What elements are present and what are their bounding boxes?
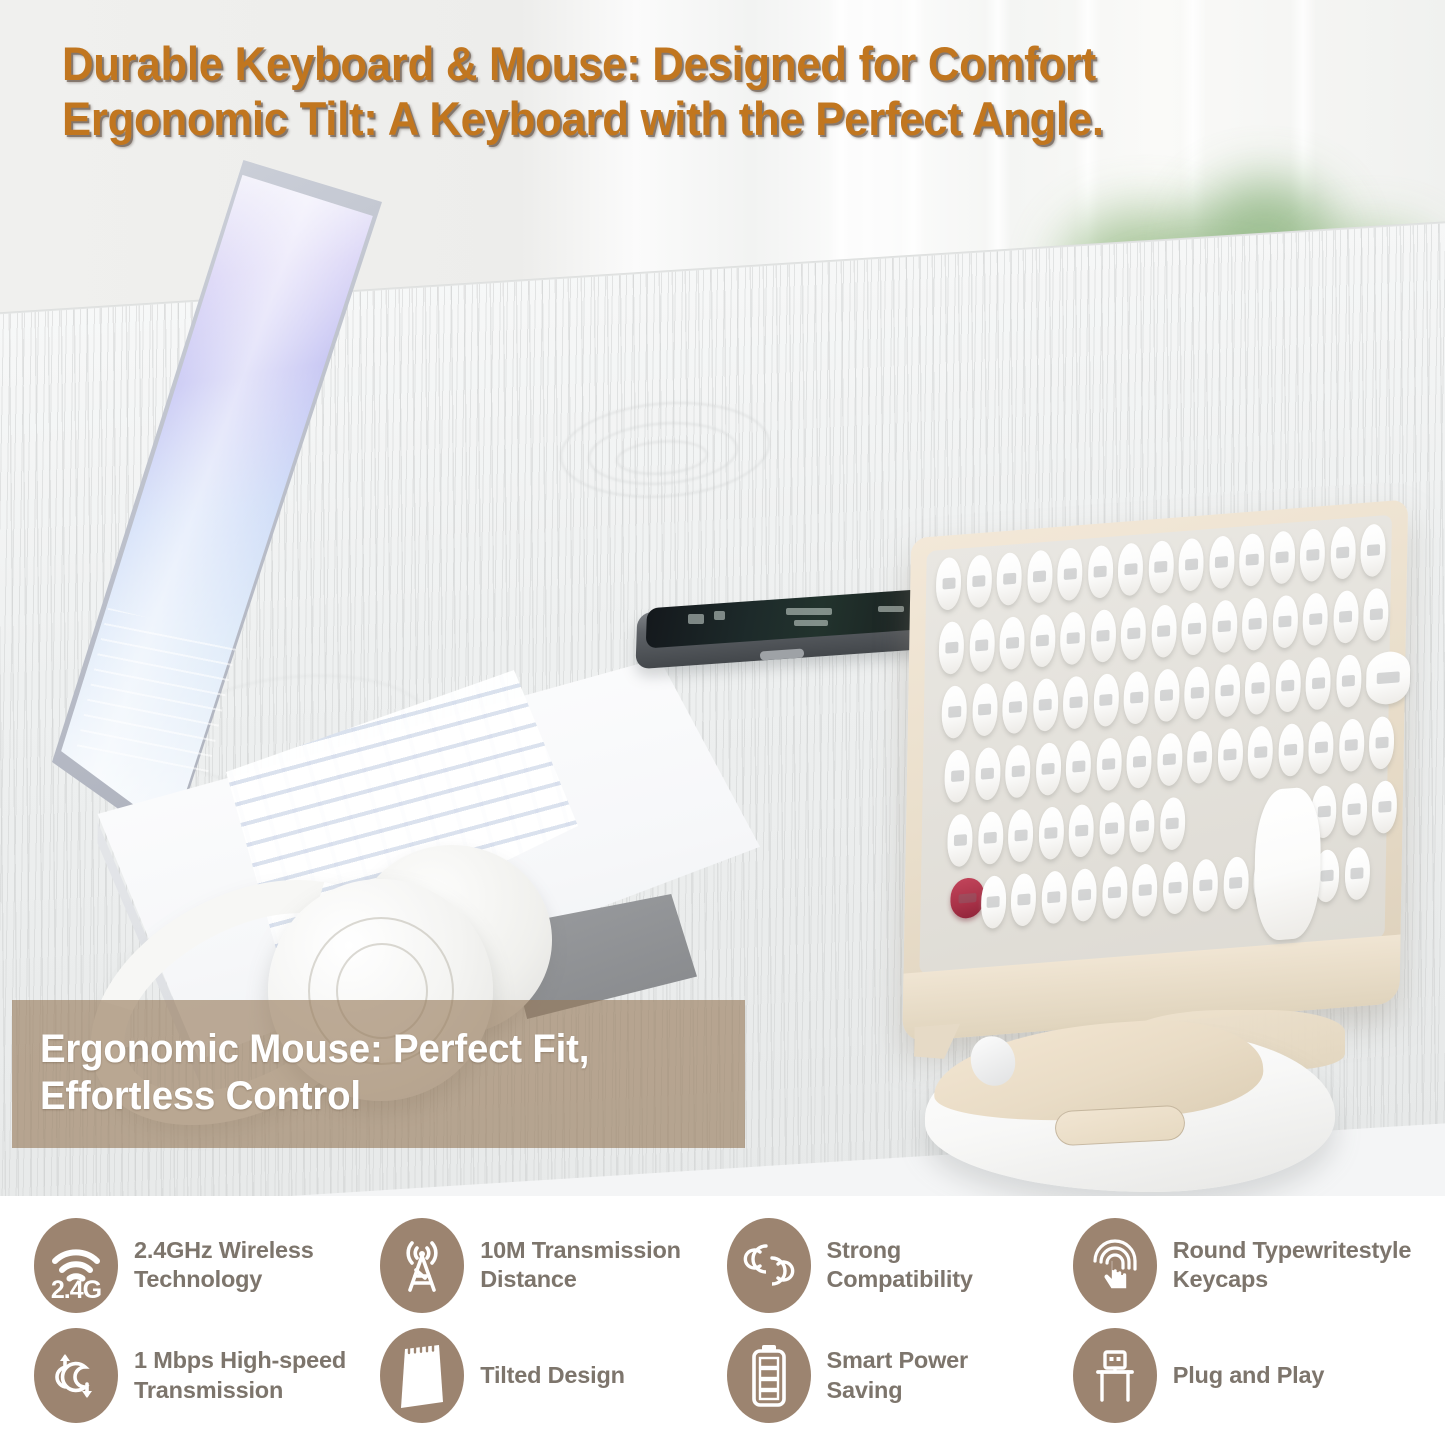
keycap-legend — [1047, 891, 1060, 904]
keycap-legend — [1378, 801, 1391, 814]
keycap-legend — [1036, 634, 1049, 647]
feature-item-power: Smart Power Saving — [727, 1321, 1073, 1432]
keycap-legend — [1375, 737, 1388, 750]
keycap-legend — [1033, 570, 1046, 583]
keycap-legend — [1185, 558, 1198, 571]
keycap-legend — [987, 896, 1000, 909]
keycap-legend — [1275, 551, 1288, 564]
keycap-legend — [1014, 829, 1027, 842]
keycap-legend — [1075, 825, 1088, 838]
keyboard-spacebar — [1253, 786, 1321, 942]
keycap-legend — [1314, 741, 1327, 754]
smartphone-app-icon — [714, 611, 725, 620]
keycap-legend — [1154, 561, 1167, 574]
keycap-legend — [959, 893, 977, 903]
caption-banner: Ergonomic Mouse: Perfect Fit, Effortless… — [12, 1000, 745, 1148]
keycap-legend — [1124, 563, 1137, 576]
keycap-legend — [1306, 549, 1319, 562]
feature-label: 1 Mbps High-speed Transmission — [134, 1346, 346, 1405]
wireless-mouse — [915, 1010, 1345, 1196]
smartphone-text-line — [794, 620, 828, 626]
keycap-legend — [1254, 746, 1267, 759]
keycap-legend — [1063, 568, 1076, 581]
keycap-legend — [1160, 689, 1173, 702]
keycap-legend — [1278, 615, 1291, 628]
caption-text: Ergonomic Mouse: Perfect Fit, Effortless… — [40, 1026, 717, 1120]
keycap-legend — [1044, 827, 1057, 840]
feature-label: Plug and Play — [1173, 1361, 1325, 1390]
keycap-legend — [1348, 803, 1361, 816]
keycap-legend — [1072, 760, 1085, 773]
keycap-legend — [1317, 806, 1330, 819]
feature-item-compatibility: Strong Compatibility — [727, 1210, 1073, 1321]
feature-label: Strong Compatibility — [827, 1236, 973, 1295]
usb-plug-icon — [1073, 1328, 1157, 1423]
keycap-legend — [1168, 882, 1181, 895]
keycap-legend — [1339, 611, 1352, 624]
feature-item-distance: 10M Transmission Distance — [380, 1210, 726, 1321]
keycap-legend — [978, 703, 991, 716]
keycap-legend — [1284, 744, 1297, 757]
feature-strip: 2.4G 2.4GHz Wireless Technology — [0, 1196, 1445, 1441]
keycap-legend — [1127, 627, 1140, 640]
keycap-legend — [1108, 886, 1121, 899]
keycap-legend — [1369, 608, 1382, 621]
smartphone-home-indicator — [760, 648, 805, 660]
keycap-legend — [1039, 699, 1052, 712]
feature-label: Tilted Design — [480, 1361, 625, 1390]
keycap-legend — [1017, 894, 1030, 907]
keycap-legend — [1366, 544, 1379, 557]
keycap-legend — [1281, 680, 1294, 693]
feature-item-tilted: Tilted Design — [380, 1321, 726, 1432]
battery-icon — [727, 1328, 811, 1423]
signal-tower-icon — [380, 1218, 464, 1313]
keycap-legend — [1094, 566, 1107, 579]
keycap-legend — [1102, 758, 1115, 771]
transfer-loop-icon — [34, 1328, 118, 1423]
keycap-legend — [1245, 554, 1258, 567]
keycap-legend — [972, 575, 985, 588]
keycap-legend — [1005, 637, 1018, 650]
keycap-legend — [1193, 751, 1206, 764]
keycap-legend — [984, 832, 997, 845]
keycap-legend — [951, 770, 964, 783]
feature-item-transmission: 1 Mbps High-speed Transmission — [34, 1321, 380, 1432]
keycap-legend — [1163, 753, 1176, 766]
keycap-legend — [1011, 765, 1024, 778]
feature-label: Round Typewritestyle Keycaps — [1173, 1236, 1411, 1295]
feature-label: Smart Power Saving — [827, 1346, 968, 1405]
keycap-legend — [1229, 877, 1242, 890]
feature-item-wireless: 2.4G 2.4GHz Wireless Technology — [34, 1210, 380, 1321]
keycap-legend — [1132, 756, 1145, 769]
feature-item-plug-play: Plug and Play — [1073, 1321, 1419, 1432]
keycap-legend — [1099, 694, 1112, 707]
keycap-legend — [981, 768, 994, 781]
keycap-legend — [1221, 684, 1234, 697]
keycap-legend — [1218, 620, 1231, 633]
keycap-legend — [1251, 682, 1264, 695]
smartphone-text-line — [878, 606, 904, 612]
wifi-24g-icon: 2.4G — [34, 1218, 118, 1313]
keycap-legend — [1078, 889, 1091, 902]
keycap-legend — [1199, 879, 1212, 892]
keycap-legend — [1041, 763, 1054, 776]
keycap-legend — [948, 706, 961, 719]
product-photo-scene: Ergonomic Mouse: Perfect Fit, Effortless… — [0, 0, 1445, 1196]
keycap-legend — [1345, 739, 1358, 752]
keycap-legend — [1003, 573, 1016, 586]
keycap-legend — [1157, 625, 1170, 638]
keycap-legend — [1096, 630, 1109, 643]
keycap-legend — [1312, 677, 1325, 690]
fingerprint-touch-icon — [1073, 1218, 1157, 1313]
keycap-legend — [1248, 618, 1261, 631]
keycap-legend — [942, 577, 955, 590]
compatibility-swirl-icon — [727, 1218, 811, 1313]
keycap-legend — [1008, 701, 1021, 714]
keycap-legend — [1342, 675, 1355, 688]
keycap-legend — [1309, 613, 1322, 626]
keycap-legend — [1066, 632, 1079, 645]
keycap-legend — [1166, 817, 1179, 830]
keycap-legend — [1135, 820, 1148, 833]
mouse-side-button — [1054, 1105, 1186, 1147]
keycap-legend — [1336, 546, 1349, 559]
keycap-legend — [1105, 822, 1118, 835]
smartphone-text-line — [786, 608, 832, 615]
keycap-legend — [953, 834, 966, 847]
feature-label: 2.4GHz Wireless Technology — [134, 1236, 314, 1295]
smartphone-app-icon — [688, 614, 704, 624]
keycap-legend — [1223, 749, 1236, 762]
keycap-legend — [1350, 867, 1363, 880]
keycap-legend — [1130, 691, 1143, 704]
tilted-keyboard-icon — [380, 1328, 464, 1423]
feature-label: 10M Transmission Distance — [480, 1236, 681, 1295]
feature-item-keycaps: Round Typewritestyle Keycaps — [1073, 1210, 1419, 1321]
keycap-legend — [1187, 623, 1200, 636]
keycap-legend — [1320, 870, 1333, 883]
keycap-legend — [1215, 556, 1228, 569]
keycap-legend — [1069, 696, 1082, 709]
keycap-legend — [945, 642, 958, 655]
keycap-legend — [1138, 884, 1151, 897]
wifi-badge-label: 2.4G — [34, 1276, 118, 1305]
wireless-keyboard — [902, 498, 1428, 1062]
keycap-legend — [975, 639, 988, 652]
keycap-legend — [1377, 671, 1400, 684]
keycap-legend — [1190, 687, 1203, 700]
